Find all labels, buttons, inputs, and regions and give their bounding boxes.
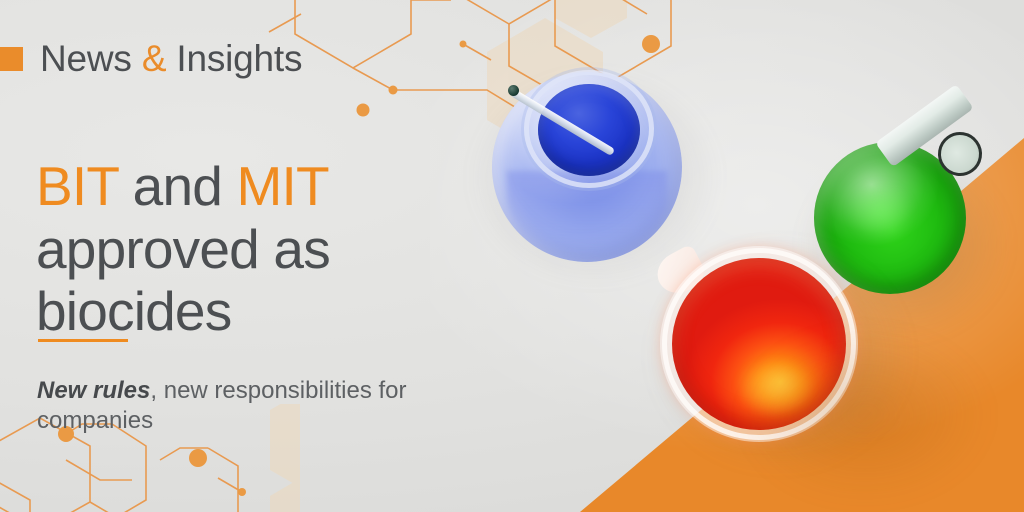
blue-liquid [538, 84, 640, 176]
headline-conjunction: and [118, 155, 236, 217]
eyebrow-text-after: Insights [166, 38, 302, 79]
eyebrow-label: News & Insights [40, 38, 302, 80]
text-column: News & Insights BIT and MITapproved asbi… [0, 0, 470, 512]
eyebrow: News & Insights [0, 38, 302, 80]
glass-pipette-tip [508, 85, 519, 96]
headline-line-2: approved as [36, 218, 330, 280]
eyebrow-ampersand: & [142, 38, 166, 79]
orange-square-marker-icon [0, 47, 23, 71]
news-insights-banner: News & Insights BIT and MITapproved asbi… [0, 0, 1024, 512]
headline-accent-mit: MIT [237, 155, 329, 217]
red-beaker-rim [662, 248, 856, 440]
orange-divider [38, 339, 128, 342]
eyebrow-text-before: News [40, 38, 142, 79]
headline-line-3: biocides [36, 280, 231, 342]
headline-accent-bit: BIT [36, 155, 118, 217]
subtitle: New rules, new responsibilities for comp… [37, 376, 447, 436]
subtitle-emphasis: New rules [37, 377, 150, 404]
page-title: BIT and MITapproved asbiocides [36, 155, 456, 343]
